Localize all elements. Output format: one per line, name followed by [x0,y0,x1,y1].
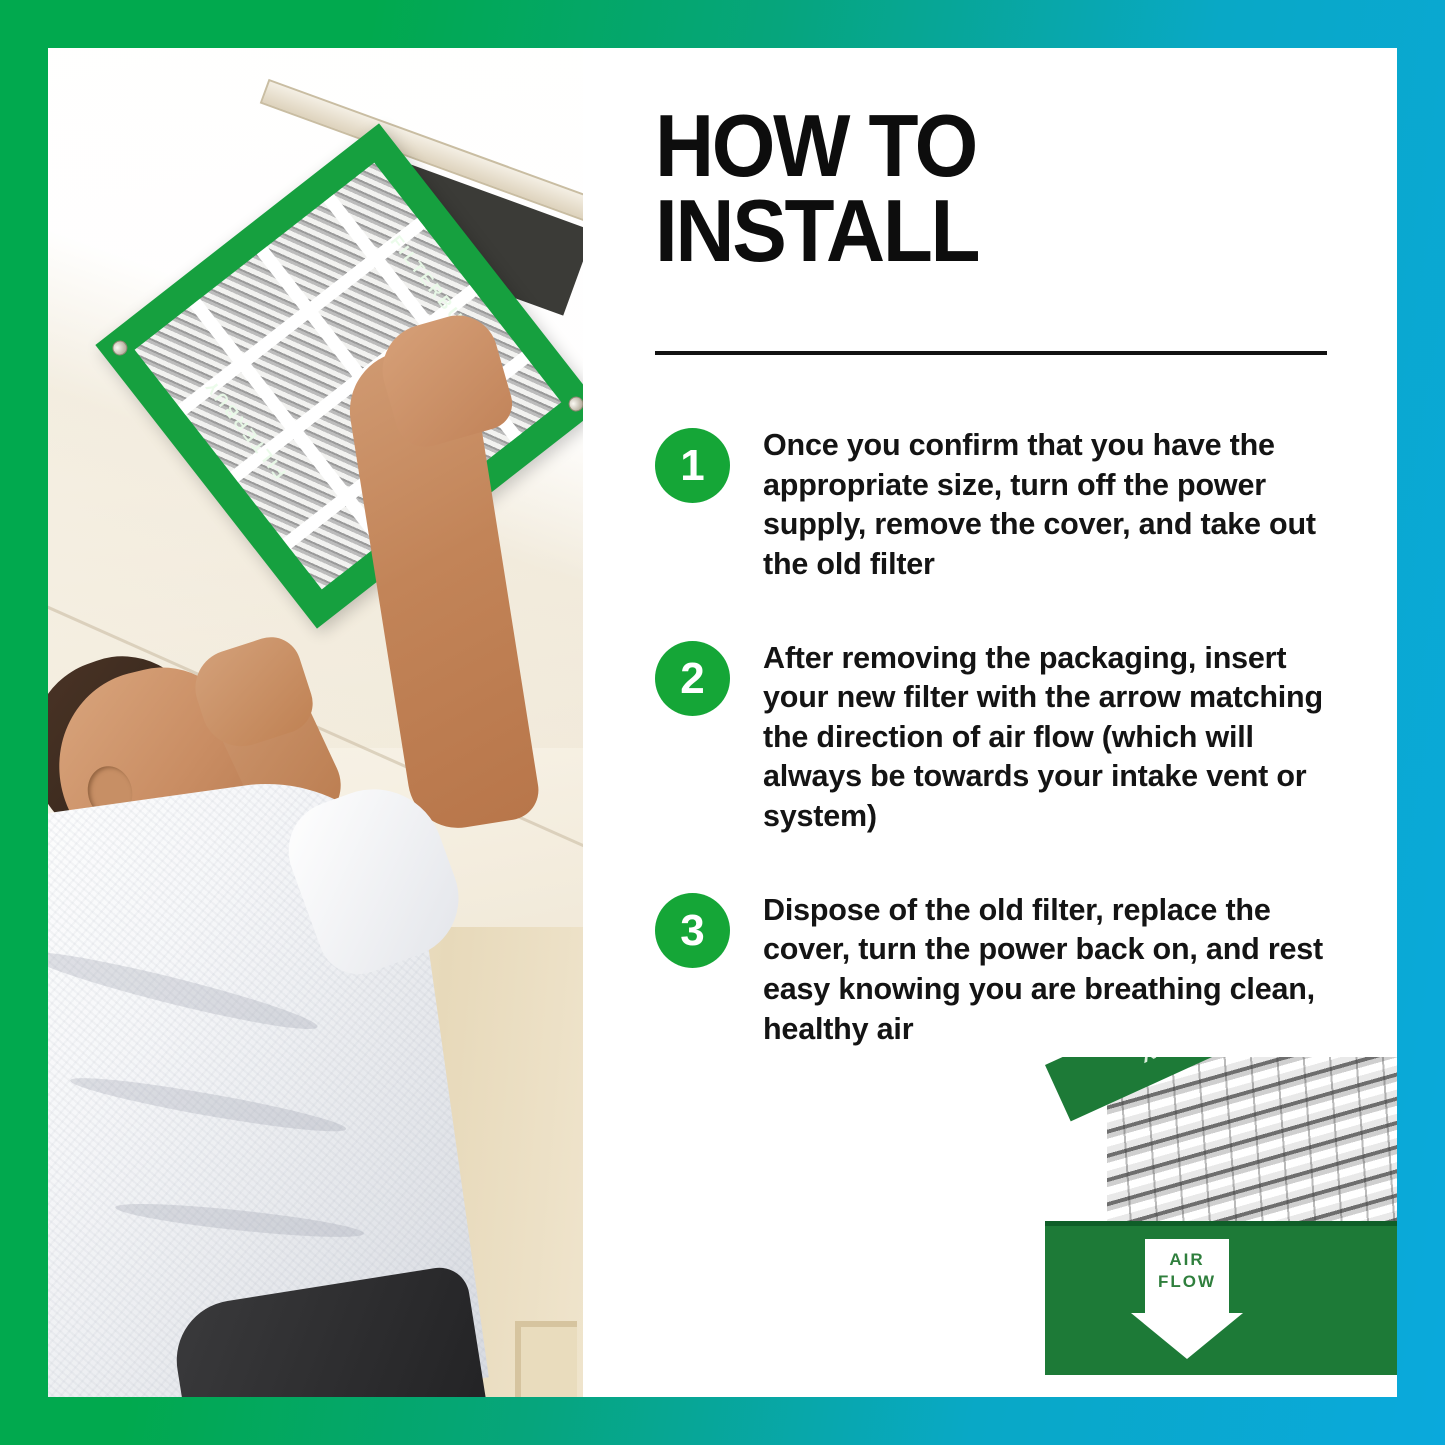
step-description: After removing the packaging, insert you… [763,639,1345,837]
instructions-panel: HOW TO INSTALL 1 Once you confirm that y… [583,48,1397,1397]
steps-list: 1 Once you confirm that you have the app… [655,426,1345,1103]
air-flow-label-line-2: FLOW [1131,1271,1243,1293]
installation-photo: FILTERBUY FILTERBUY [48,48,583,1397]
step-item: 3 Dispose of the old filter, replace the… [655,891,1345,1050]
step-number-badge: 1 [655,428,730,503]
page-title-line-1: HOW TO [655,103,1306,188]
air-flow-label: AIR FLOW [1131,1249,1243,1293]
step-description: Once you confirm that you have the appro… [763,426,1345,585]
poster-inner-panel: FILTERBUY FILTERBUY H [48,48,1397,1397]
step-number-badge: 2 [655,641,730,716]
step-description: Dispose of the old filter, replace the c… [763,891,1345,1050]
arrow-head [1131,1313,1243,1359]
poster-canvas: FILTERBUY FILTERBUY H [0,0,1445,1445]
air-flow-label-line-1: AIR [1131,1249,1243,1271]
page-title: HOW TO INSTALL [655,103,1306,274]
product-frame-front-edge [1045,1221,1397,1226]
title-divider [655,351,1327,355]
page-title-line-2: INSTALL [655,188,1306,273]
product-filter-image: FILTERBUY AIR FLOW [1045,1057,1397,1397]
air-flow-arrow-icon: AIR FLOW [1131,1239,1241,1359]
step-number-badge: 3 [655,893,730,968]
photo-door-panel [515,1321,577,1397]
product-frame-front: AIR FLOW [1045,1223,1397,1375]
step-item: 2 After removing the packaging, insert y… [655,639,1345,837]
step-item: 1 Once you confirm that you have the app… [655,426,1345,585]
